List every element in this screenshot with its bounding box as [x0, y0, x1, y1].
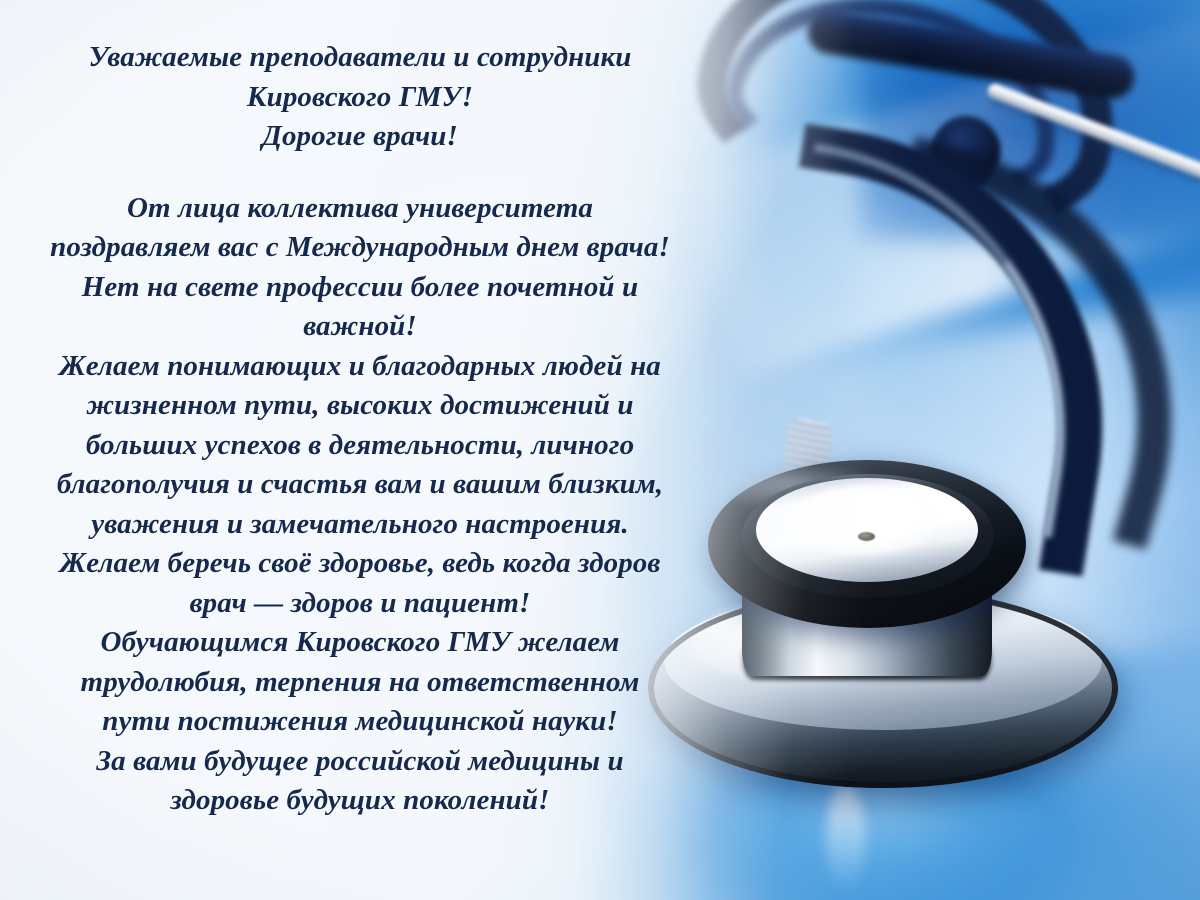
message-line-11: врач — здоров и пациент!: [30, 584, 690, 624]
greeting-line-2: Кировского ГМУ!: [30, 78, 690, 118]
message-line-4: важной!: [30, 307, 690, 347]
message-line-13: трудолюбия, терпения на ответственном: [30, 663, 690, 703]
greeting-heading: Уважаемые преподаватели и сотрудники Кир…: [30, 38, 690, 157]
greeting-card-poster: Уважаемые преподаватели и сотрудники Кир…: [0, 0, 1200, 900]
message-line-3: Нет на свете профессии более почетной и: [30, 268, 690, 308]
message-line-1: От лица коллектива университета: [30, 189, 690, 229]
message-line-6: жизненном пути, высоких достижений и: [30, 386, 690, 426]
message-line-14: пути постижения медицинской науки!: [30, 702, 690, 742]
message-line-7: больших успехов в деятельности, личного: [30, 426, 690, 466]
message-line-12: Обучающимся Кировского ГМУ желаем: [30, 623, 690, 663]
greeting-line-3: Дорогие врачи!: [30, 117, 690, 157]
message-line-10: Желаем беречь своё здоровье, ведь когда …: [30, 544, 690, 584]
card-text-block: Уважаемые преподаватели и сотрудники Кир…: [30, 38, 690, 821]
message-line-9: уважения и замечательного настроения.: [30, 505, 690, 545]
message-line-15: За вами будущее российской медицины и: [30, 742, 690, 782]
message-line-16: здоровье будущих поколений!: [30, 781, 690, 821]
paragraph-spacer: [30, 157, 690, 189]
message-line-8: благополучия и счастья вам и вашим близк…: [30, 465, 690, 505]
message-line-5: Желаем понимающих и благодарных людей на: [30, 347, 690, 387]
greeting-line-1: Уважаемые преподаватели и сотрудники: [30, 38, 690, 78]
message-line-2: поздравляем вас с Международным днем вра…: [30, 228, 690, 268]
greeting-message-body: От лица коллектива университета поздравл…: [30, 189, 690, 821]
